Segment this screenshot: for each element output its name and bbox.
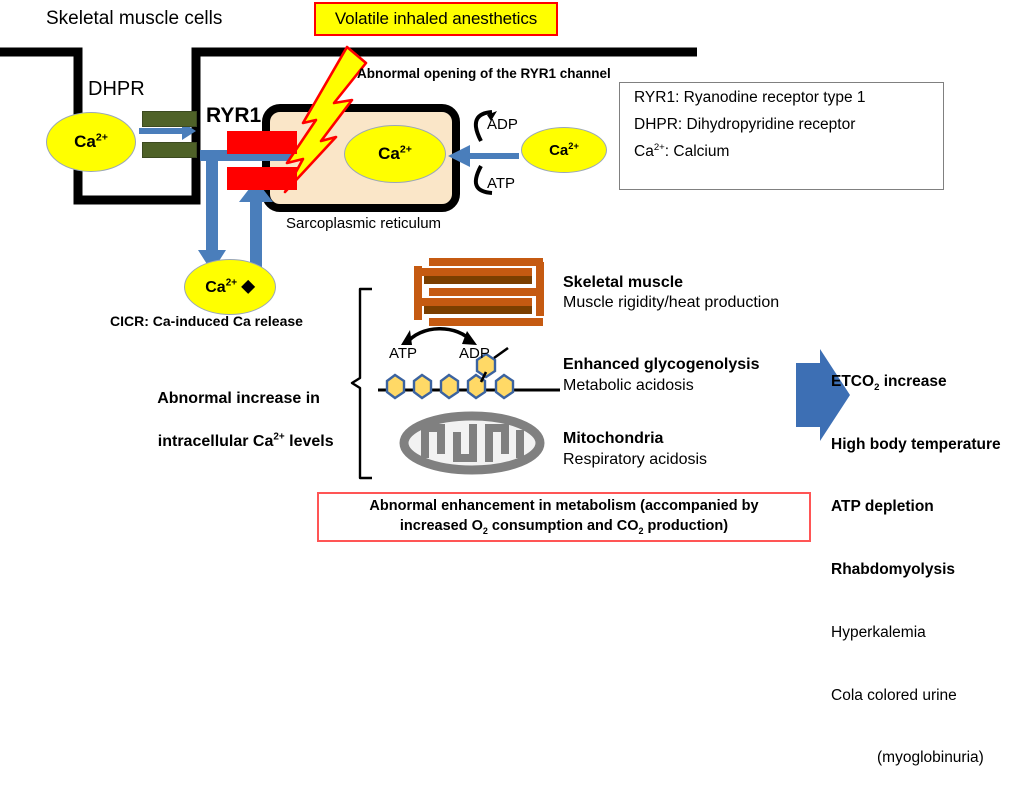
metabolic-bracket xyxy=(352,289,372,478)
adp-pump-label: ADP xyxy=(487,116,518,134)
effect-title-mitochondria: Mitochondria xyxy=(563,430,663,449)
cicr-label: CICR: Ca-induced Ca release xyxy=(110,313,303,330)
atp-glycogenolysis-label: ATP xyxy=(389,345,417,363)
dhpr-channel-bar-top xyxy=(142,111,197,127)
calcium-sr-label: Ca2+ xyxy=(378,144,412,164)
outcomes-list: ETCO2 increase High body temperature ATP… xyxy=(831,330,1001,811)
sarcoplasmic-reticulum-label: Sarcoplasmic reticulum xyxy=(286,215,441,233)
effect-title-skeletal-muscle: Skeletal muscle xyxy=(563,274,683,293)
legend-item-dhpr: DHPR: Dihydropyridine receptor xyxy=(634,116,943,134)
atp-adp-arrow xyxy=(401,329,477,345)
calcium-sr-ellipse: Ca2+ xyxy=(344,125,446,183)
legend-item-ryr1: RYR1: Ryanodine receptor type 1 xyxy=(634,89,943,107)
outcome-item-hyperkalemia: Hyperkalemia xyxy=(831,623,1001,644)
abnormal-increase-label: Abnormal increase in intracellular Ca2+ … xyxy=(140,366,334,474)
outcome-item-rhabdomyolysis: Rhabdomyolysis xyxy=(831,560,1001,581)
effect-subtitle-mitochondria: Respiratory acidosis xyxy=(563,451,707,470)
metabolism-summary-line1: Abnormal enhancement in metabolism (acco… xyxy=(369,497,758,517)
volatile-anesthetics-label: Volatile inhaled anesthetics xyxy=(335,9,537,29)
legend-item-calcium: Ca2+: Calcium xyxy=(634,143,943,161)
ryr1-channel-bar-bottom xyxy=(227,167,297,190)
mitochondria-icon xyxy=(404,416,540,470)
effect-subtitle-skeletal-muscle: Muscle rigidity/heat production xyxy=(563,294,779,313)
dhpr-label: DHPR xyxy=(88,78,145,102)
page-title: Skeletal muscle cells xyxy=(46,8,222,30)
outcome-item-atp-depletion: ATP depletion xyxy=(831,497,1001,518)
lightning-annotation-label: Abnormal opening of the RYR1 channel xyxy=(357,66,611,82)
calcium-external-ellipse: Ca2+ xyxy=(521,127,607,173)
calcium-cytosol-label: Ca2+ xyxy=(74,132,108,152)
metabolism-summary-box: Abnormal enhancement in metabolism (acco… xyxy=(317,492,811,542)
calcium-cytosol-ellipse: Ca2+ xyxy=(46,112,136,172)
ryr1-label: RYR1 xyxy=(206,104,261,129)
sarcomere-icon xyxy=(414,258,544,326)
ryr1-channel-bar-top xyxy=(227,131,297,154)
dhpr-channel-bar-bottom xyxy=(142,142,197,158)
abbreviation-legend-box: RYR1: Ryanodine receptor type 1 DHPR: Di… xyxy=(619,82,944,190)
outcome-item-temperature: High body temperature xyxy=(831,435,1001,456)
calcium-increase-ellipse: Ca2+ ⬥ xyxy=(184,259,276,315)
adp-glycogenolysis-label: ADP xyxy=(459,345,490,363)
outcome-item-cola-urine: Cola colored urine xyxy=(831,686,1001,707)
diagram-canvas: Volatile inhaled anesthetics Skeletal mu… xyxy=(0,0,1024,542)
atp-pump-label: ATP xyxy=(487,175,515,193)
abnormal-increase-line1: Abnormal increase in xyxy=(157,390,320,407)
effect-title-glycogenolysis: Enhanced glycogenolysis xyxy=(563,356,760,375)
outcome-item-myoglobinuria: (myoglobinuria) xyxy=(831,748,1001,769)
metabolism-summary-line2: increased O2 consumption and CO2 product… xyxy=(400,517,728,537)
calcium-increase-label: Ca2+ ⬥ xyxy=(205,276,255,298)
outcome-item-etco2: ETCO2 increase xyxy=(831,372,1001,393)
calcium-external-label: Ca2+ xyxy=(549,142,579,159)
effect-subtitle-glycogenolysis: Metabolic acidosis xyxy=(563,377,694,396)
volatile-anesthetics-box: Volatile inhaled anesthetics xyxy=(314,2,558,36)
